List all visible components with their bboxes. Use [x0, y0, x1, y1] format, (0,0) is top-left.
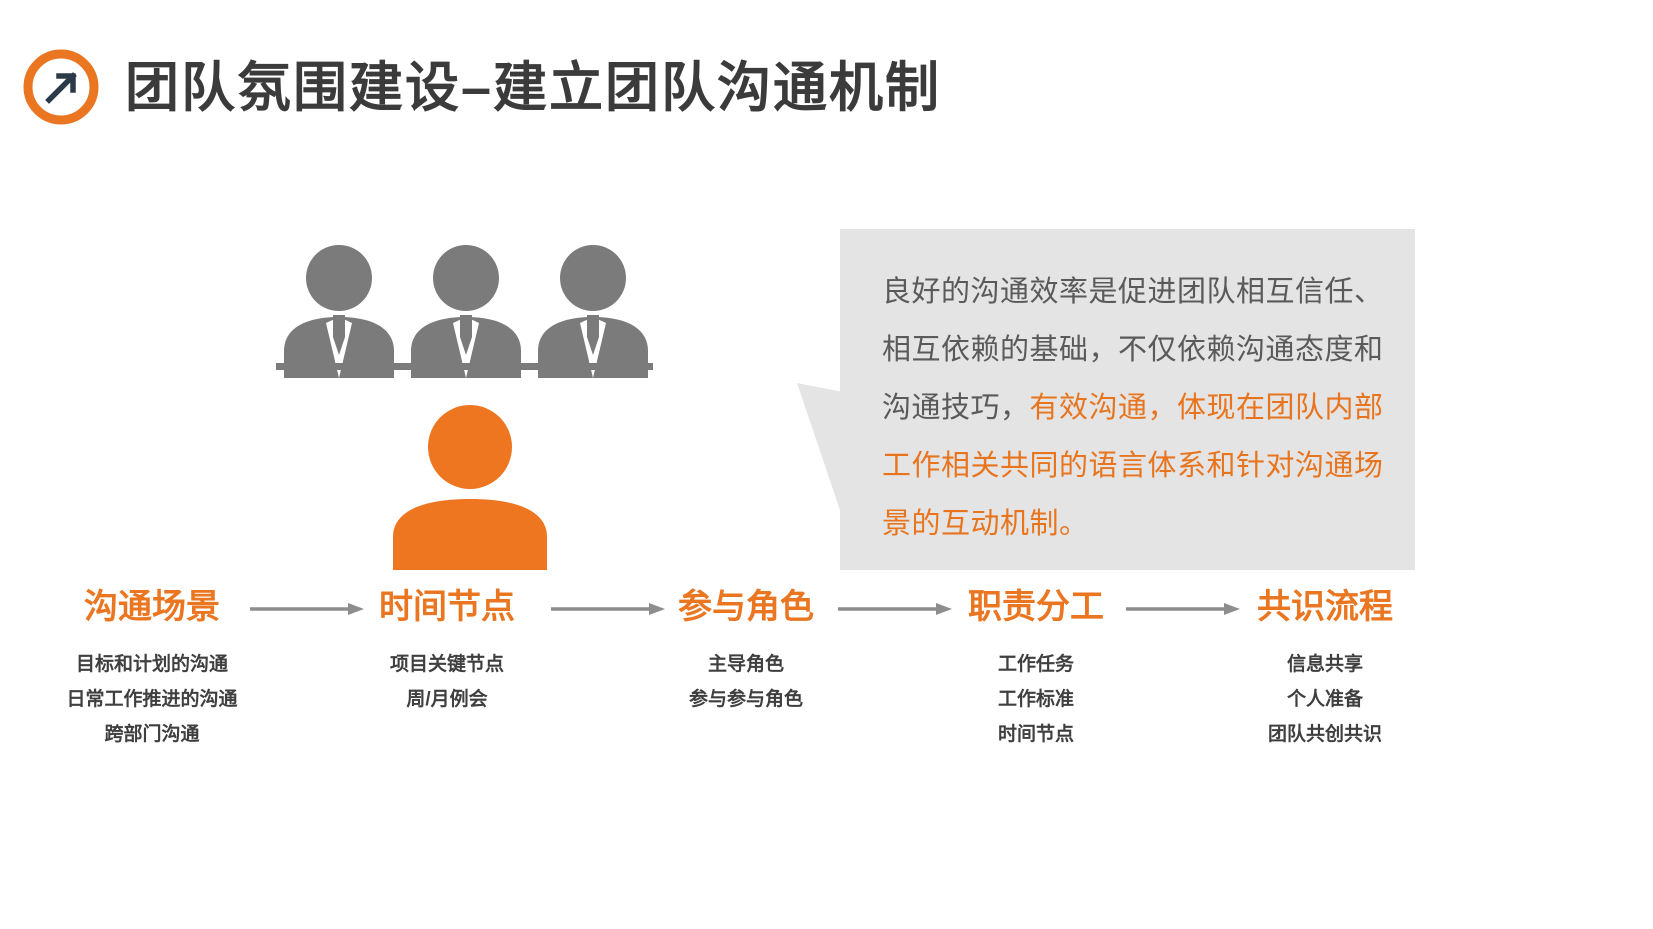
flow-step-1-items: 目标和计划的沟通 日常工作推进的沟通 跨部门沟通	[22, 647, 282, 752]
flow-step-5-item-2: 个人准备	[1195, 682, 1455, 717]
flow-step-3[interactable]: 参与角色 主导角色 参与参与角色	[616, 583, 876, 717]
flow-step-4-item-3: 时间节点	[906, 717, 1166, 752]
slide-header: 团队氛围建设–建立团队沟通机制	[0, 22, 1653, 132]
speech-bubble-tail-icon	[797, 379, 843, 519]
flow-step-3-item-1: 主导角色	[616, 647, 876, 682]
flow-step-5-item-1: 信息共享	[1195, 647, 1455, 682]
three-people-icon	[276, 243, 656, 378]
flow-step-1[interactable]: 沟通场景 目标和计划的沟通 日常工作推进的沟通 跨部门沟通	[22, 583, 282, 752]
callout-text: 良好的沟通效率是促进团队相互信任、相互依赖的基础，不仅依赖沟通态度和沟通技巧，有…	[882, 263, 1392, 553]
page-title: 团队氛围建设–建立团队沟通机制	[125, 52, 941, 124]
flow-step-2-items: 项目关键节点 周/月例会	[317, 647, 577, 717]
flow-step-5-item-3: 团队共创共识	[1195, 717, 1455, 752]
flow-step-4-item-2: 工作标准	[906, 682, 1166, 717]
flow-step-5-title: 共识流程	[1195, 583, 1455, 631]
arrow-up-right-circle-icon	[20, 46, 102, 128]
flow-step-3-item-2: 参与参与角色	[616, 682, 876, 717]
flow-step-4-item-1: 工作任务	[906, 647, 1166, 682]
flow-step-4-items: 工作任务 工作标准 时间节点	[906, 647, 1166, 752]
callout-bubble: 良好的沟通效率是促进团队相互信任、相互依赖的基础，不仅依赖沟通态度和沟通技巧，有…	[797, 229, 1415, 570]
flow-step-1-item-1: 目标和计划的沟通	[22, 647, 282, 682]
flow-step-1-item-2: 日常工作推进的沟通	[22, 682, 282, 717]
flow-step-2-item-2: 周/月例会	[317, 682, 577, 717]
flow-step-5-items: 信息共享 个人准备 团队共创共识	[1195, 647, 1455, 752]
table-line-icon	[276, 363, 653, 370]
process-flow: 沟通场景 目标和计划的沟通 日常工作推进的沟通 跨部门沟通 时间节点 项目关键节…	[0, 583, 1653, 813]
flow-step-1-item-3: 跨部门沟通	[22, 717, 282, 752]
flow-step-3-title: 参与角色	[616, 583, 876, 631]
person-icon	[385, 405, 555, 570]
flow-step-2[interactable]: 时间节点 项目关键节点 周/月例会	[317, 583, 577, 717]
flow-step-1-title: 沟通场景	[22, 583, 282, 631]
flow-step-5[interactable]: 共识流程 信息共享 个人准备 团队共创共识	[1195, 583, 1455, 752]
flow-step-2-title: 时间节点	[317, 583, 577, 631]
flow-step-3-items: 主导角色 参与参与角色	[616, 647, 876, 717]
flow-step-2-item-1: 项目关键节点	[317, 647, 577, 682]
